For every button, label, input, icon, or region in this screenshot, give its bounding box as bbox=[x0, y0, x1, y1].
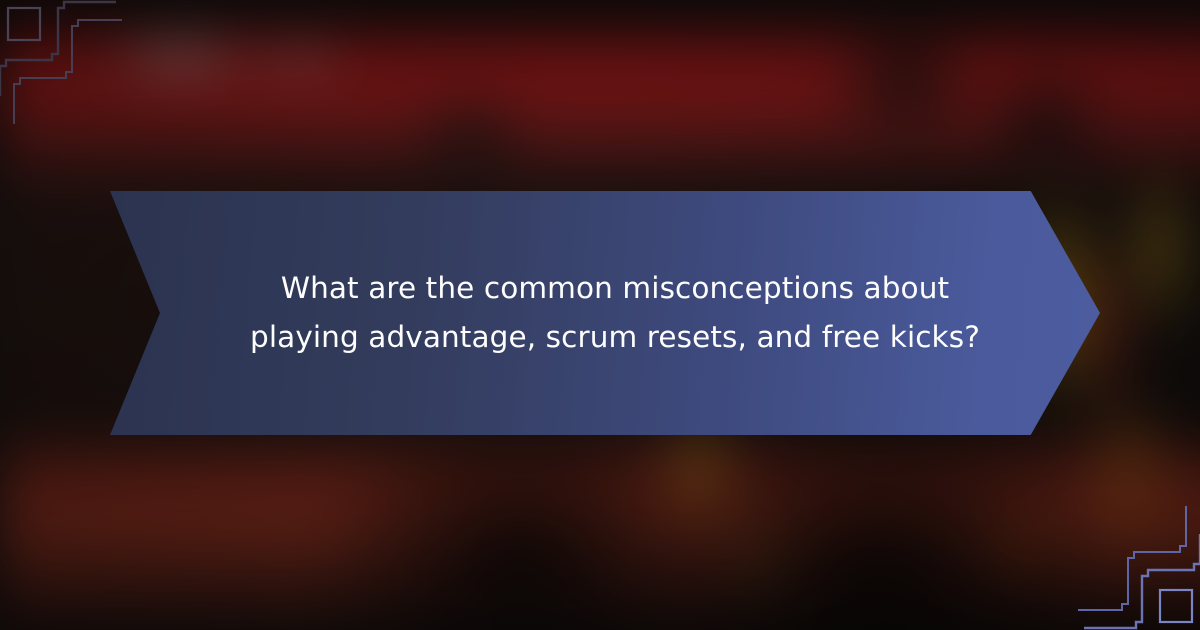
social-share-card: What are the common misconceptions about… bbox=[0, 0, 1200, 630]
headline-banner: What are the common misconceptions about… bbox=[110, 191, 1100, 435]
headline-line-2: playing advantage, scrum resets, and fre… bbox=[250, 317, 980, 358]
headline-line-1: What are the common misconceptions about bbox=[281, 268, 949, 309]
headline-text-block: What are the common misconceptions about… bbox=[110, 191, 1100, 435]
